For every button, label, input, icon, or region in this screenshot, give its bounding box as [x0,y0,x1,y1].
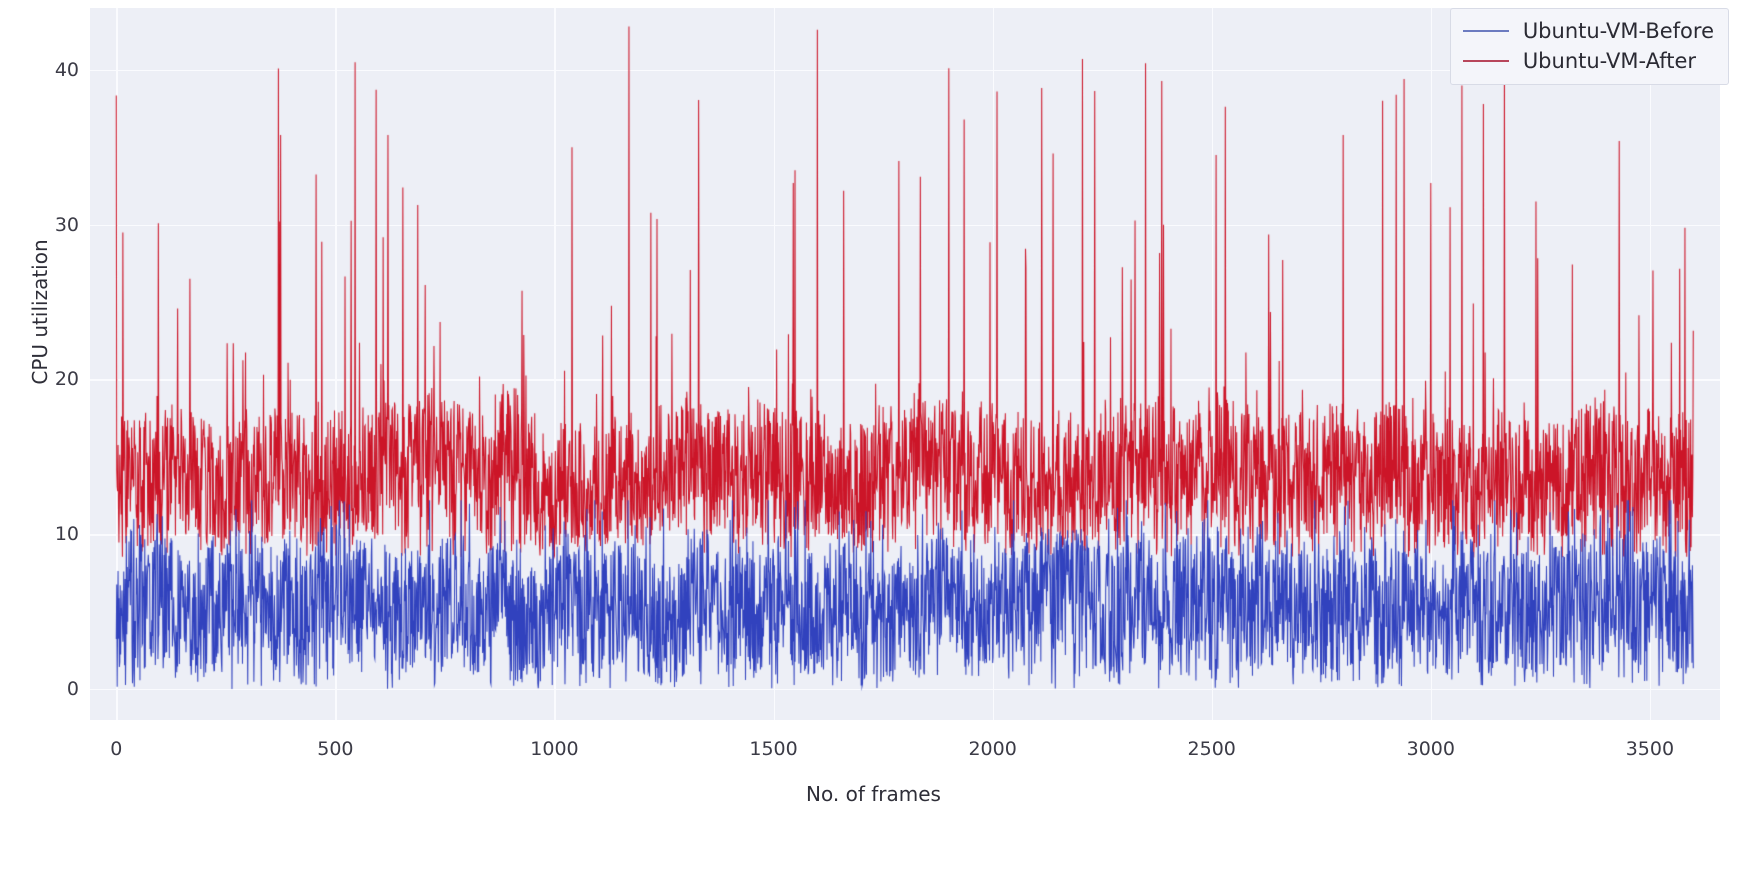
y-tick-label: 20 [55,368,79,390]
legend-label-after: Ubuntu-VM-After [1523,49,1696,73]
x-tick-label: 0 [110,738,122,760]
y-tick-label: 40 [55,59,79,81]
plot-area [90,8,1720,720]
legend-swatch-before [1463,30,1509,32]
x-tick-label: 2000 [968,738,1016,760]
x-axis-label: No. of frames [0,782,1747,806]
x-tick-label: 1000 [530,738,578,760]
chart-figure: 010203040 0500100015002000250030003500 C… [0,0,1747,880]
x-tick-label: 500 [317,738,353,760]
legend-swatch-after [1463,60,1509,62]
legend-item-before[interactable]: Ubuntu-VM-Before [1463,16,1714,46]
x-tick-label: 3000 [1407,738,1455,760]
y-tick-label: 0 [67,678,79,700]
legend[interactable]: Ubuntu-VM-Before Ubuntu-VM-After [1450,8,1729,85]
series-canvas [90,8,1720,720]
y-tick-label: 30 [55,214,79,236]
y-axis-label: CPU utilization [28,112,52,512]
legend-item-after[interactable]: Ubuntu-VM-After [1463,46,1714,76]
x-tick-label: 1500 [749,738,797,760]
legend-label-before: Ubuntu-VM-Before [1523,19,1714,43]
y-tick-label: 10 [55,523,79,545]
x-tick-label: 3500 [1626,738,1674,760]
x-tick-label: 2500 [1188,738,1236,760]
